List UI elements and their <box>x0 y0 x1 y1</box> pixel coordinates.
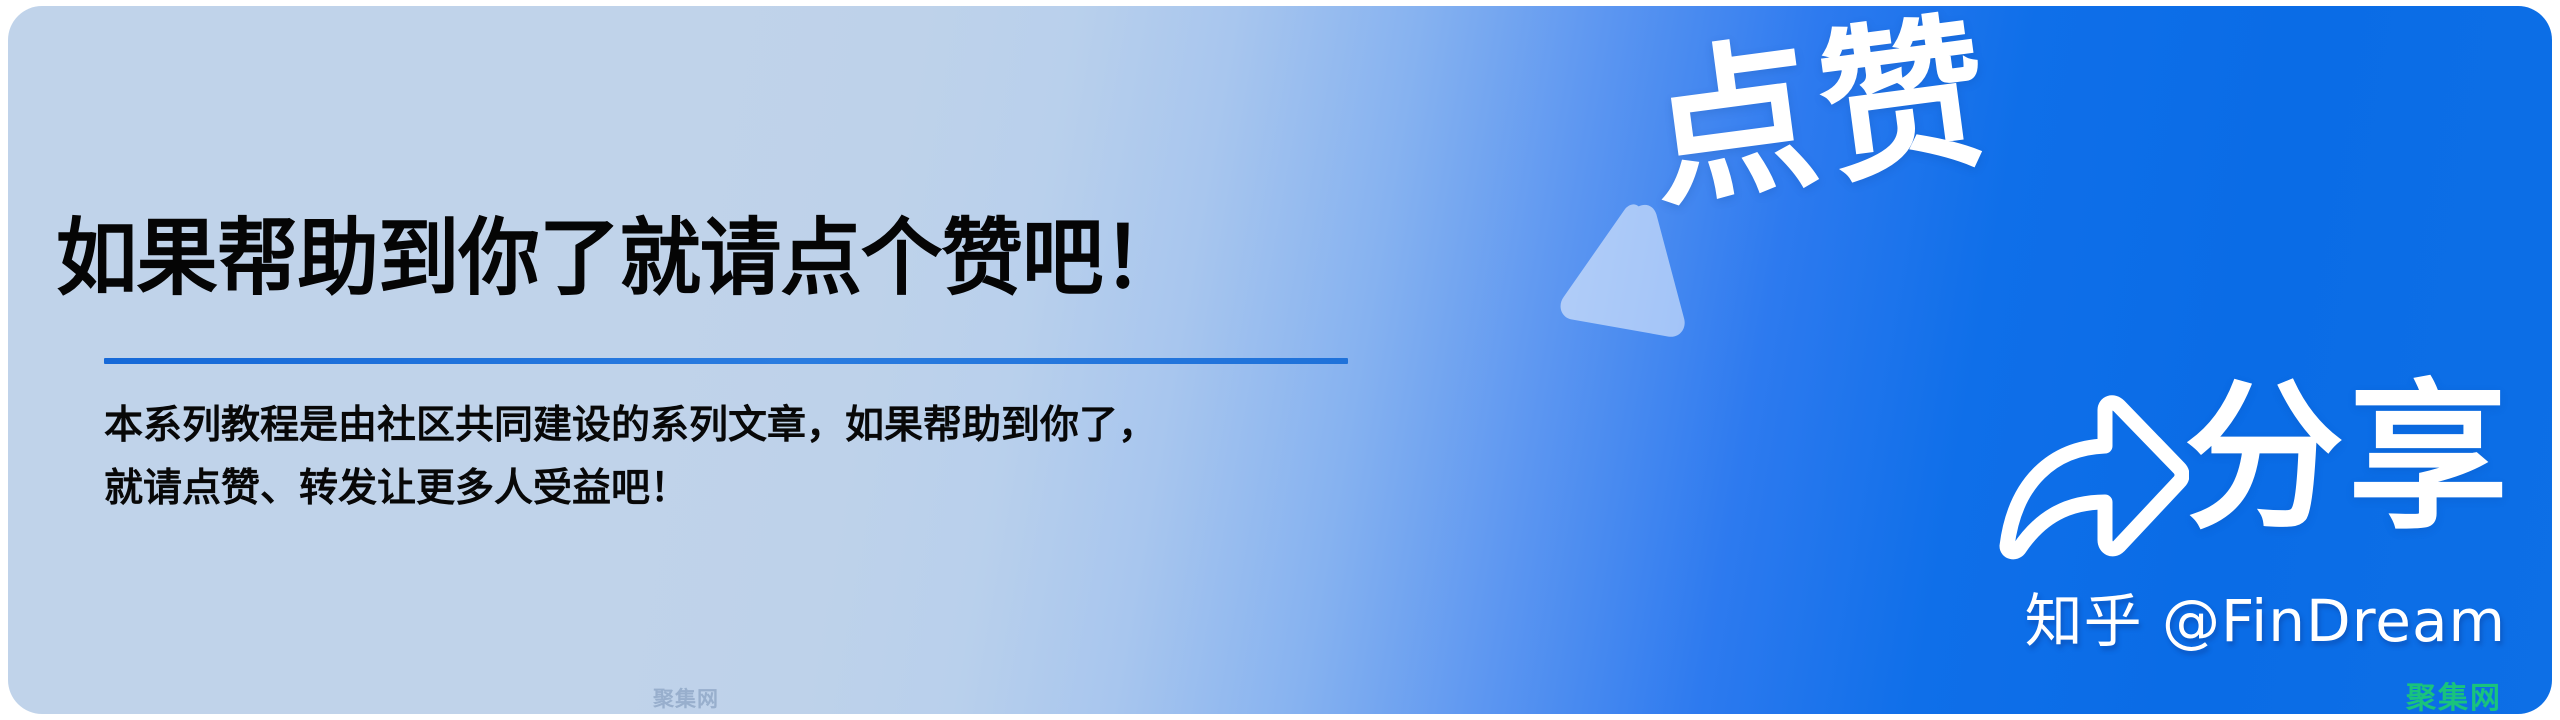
watermark-center: 聚集网 <box>653 689 719 710</box>
share-word: 分享 <box>2184 378 2512 538</box>
title-divider <box>104 358 1348 364</box>
watermark-corner: 聚集网 <box>2406 684 2502 714</box>
like-word: 点赞 <box>1640 9 2003 218</box>
page-title: 如果帮助到你了就请点个赞吧！ <box>50 216 1350 300</box>
subtitle-line: 本系列教程是由社区共同建设的系列文章，如果帮助到你了， <box>104 394 1394 457</box>
left-text-block: 如果帮助到你了就请点个赞吧！ 本系列教程是由社区共同建设的系列文章，如果帮助到你… <box>50 216 1390 300</box>
share-arrow-icon <box>1993 394 2189 570</box>
promo-banner: 如果帮助到你了就请点个赞吧！ 本系列教程是由社区共同建设的系列文章，如果帮助到你… <box>8 6 2552 714</box>
subtitle-line: 就请点赞、转发让更多人受益吧！ <box>104 457 1394 520</box>
subtitle-paragraph: 本系列教程是由社区共同建设的系列文章，如果帮助到你了， 就请点赞、转发让更多人受… <box>104 394 1394 520</box>
author-handle: 知乎 @FinDream <box>2025 592 2506 650</box>
